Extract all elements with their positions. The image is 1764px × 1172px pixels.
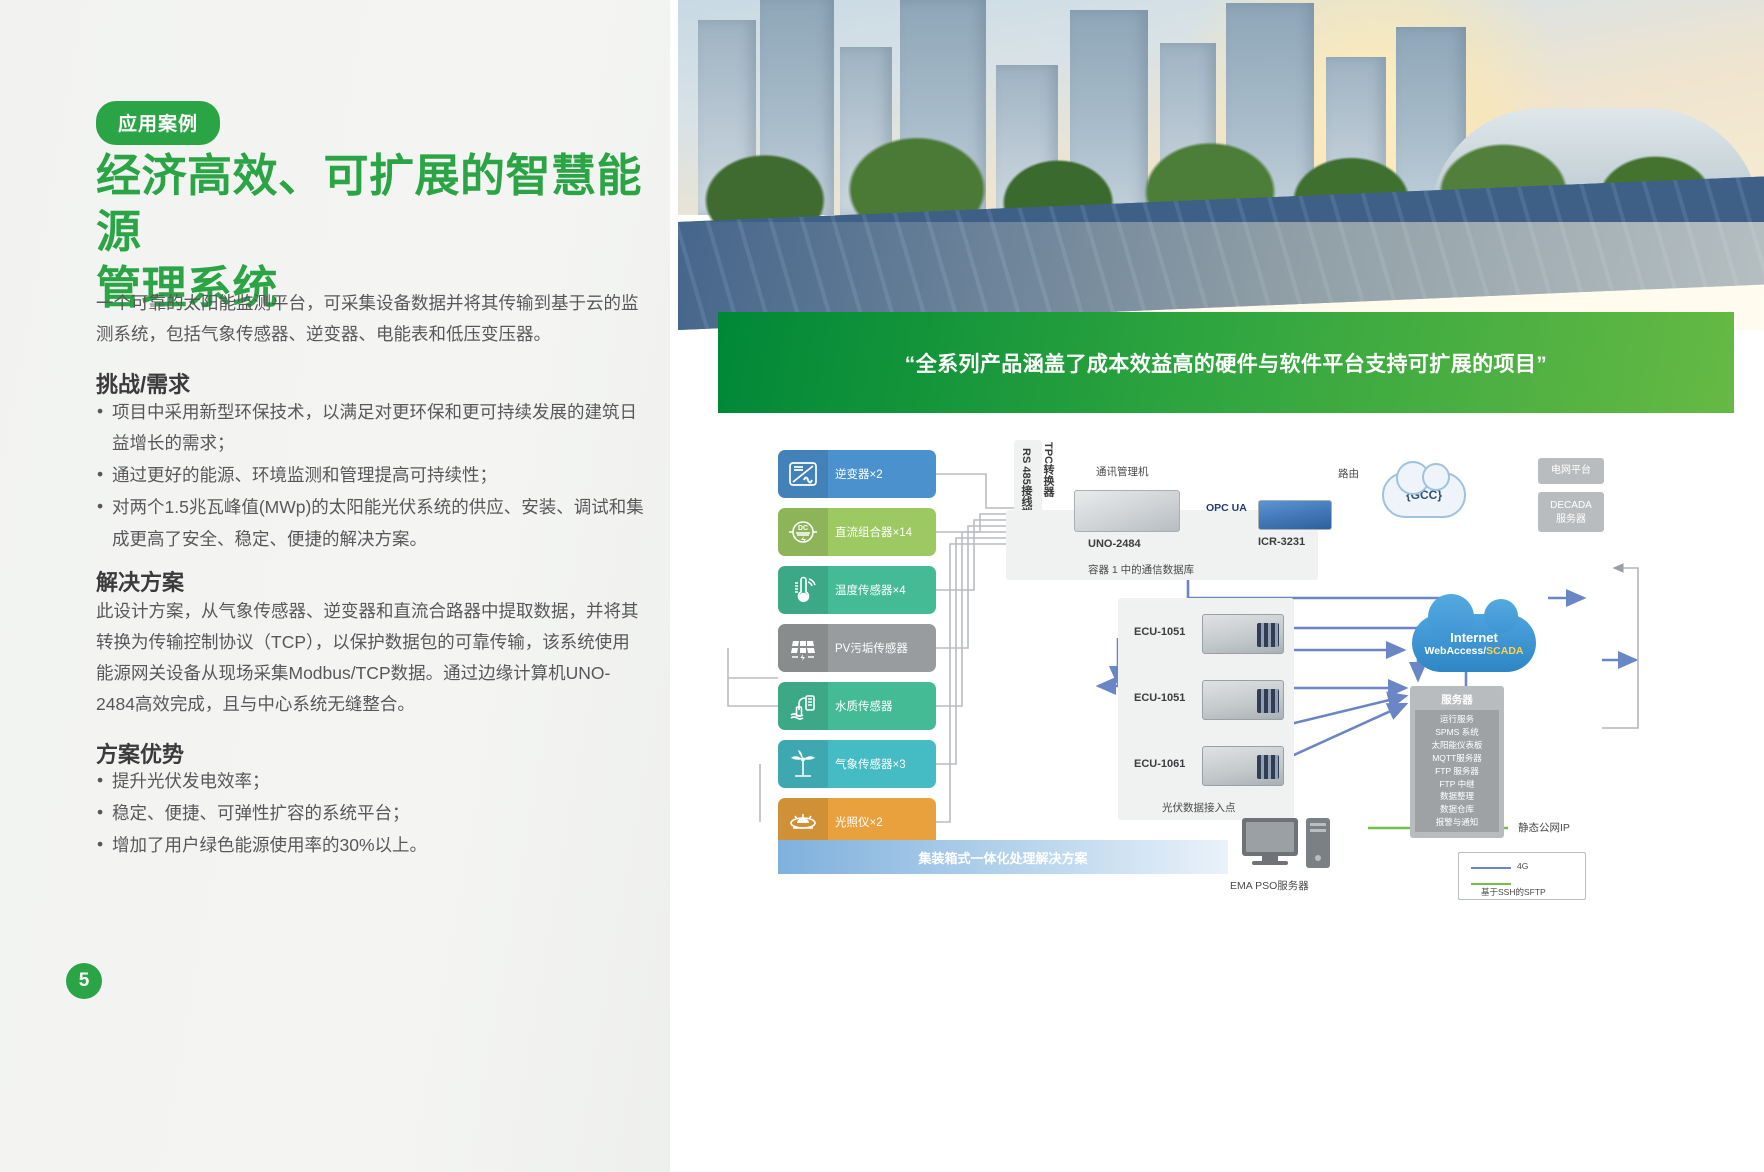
device-row[interactable]: 水质传感器 bbox=[778, 682, 936, 730]
list-item: 通过更好的能源、环境监测和管理提高可持续性； bbox=[96, 460, 644, 491]
list-item: 对两个1.5兆瓦峰值(MWp)的太阳能光伏系统的供应、安装、调试和集成更高了安全… bbox=[96, 492, 644, 554]
benefit-list: 提升光伏发电效率；稳定、便捷、可弹性扩容的系统平台；增加了用户绿色能源使用率的3… bbox=[96, 766, 644, 861]
server-item: FTP 服务器 bbox=[1415, 765, 1499, 778]
server-item: 太阳能仪表板 bbox=[1415, 739, 1499, 752]
device-row[interactable]: 温度传感器×4 bbox=[778, 566, 936, 614]
legend-label-4g: 4G bbox=[1517, 861, 1528, 871]
ema-server-label: EMA PSO服务器 bbox=[1230, 878, 1309, 893]
legend-box: 4G 基于SSH的SFTP bbox=[1458, 852, 1586, 900]
internet-cloud: Internet WebAccess/SCADA bbox=[1412, 614, 1536, 672]
list-item: 项目中采用新型环保技术，以满足对更环保和更可持续发展的建筑日益增长的需求； bbox=[96, 397, 644, 459]
section-body-benefit: 提升光伏发电效率；稳定、便捷、可弹性扩容的系统平台；增加了用户绿色能源使用率的3… bbox=[96, 766, 644, 862]
right-page: “全系列产品涵盖了成本效益高的硬件与软件平台支持可扩展的项目” bbox=[670, 0, 1764, 1172]
device-label: 直流组合器×14 bbox=[828, 524, 912, 540]
quote-text: “全系列产品涵盖了成本效益高的硬件与软件平台支持可扩展的项目” bbox=[905, 348, 1547, 378]
section-body-solution: 此设计方案，从气象传感器、逆变器和直流合路器中提取数据，并将其转换为传输控制协议… bbox=[96, 596, 644, 721]
comm-manager-label: 通讯管理机 bbox=[1096, 464, 1149, 479]
opc-ua-label: OPC UA bbox=[1206, 502, 1247, 514]
container-db-label: 容器 1 中的通信数据库 bbox=[1088, 562, 1194, 577]
server-item: 运行服务 bbox=[1415, 713, 1499, 726]
icr-3231-label: ICR-3231 bbox=[1258, 536, 1305, 548]
server-title: 服务器 bbox=[1410, 690, 1504, 710]
server-item: SPMS 系统 bbox=[1415, 726, 1499, 739]
device-row[interactable]: DC 直流组合器×14 bbox=[778, 508, 936, 556]
list-item: 增加了用户绿色能源使用率的30%以上。 bbox=[96, 830, 644, 861]
ecu-label: ECU-1061 bbox=[1134, 758, 1185, 770]
device-label: 水质传感器 bbox=[828, 698, 893, 714]
uno-2484-label: UNO-2484 bbox=[1088, 538, 1141, 550]
decada-server-card: DECADA 服务器 bbox=[1538, 492, 1604, 532]
legend-line-sftp bbox=[1471, 883, 1511, 885]
device-label: 光照仪×2 bbox=[828, 814, 883, 830]
ecu-device bbox=[1202, 614, 1284, 654]
gcc-label: {GCC} bbox=[1406, 488, 1442, 502]
pyranometer-icon bbox=[778, 798, 828, 846]
device-row[interactable]: 光照仪×2 bbox=[778, 798, 936, 846]
device-row[interactable]: 逆变器×2 bbox=[778, 450, 936, 498]
ema-workstation bbox=[1240, 816, 1348, 879]
server-item: FTP 中继 bbox=[1415, 778, 1499, 791]
architecture-diagram: 逆变器×2 DC 直流组合器×14 bbox=[718, 428, 1748, 948]
gcc-cloud: {GCC} bbox=[1382, 472, 1466, 518]
list-item: 稳定、便捷、可弹性扩容的系统平台； bbox=[96, 798, 644, 829]
application-case-badge: 应用案例 bbox=[96, 101, 220, 145]
uno-2484-device bbox=[1074, 490, 1180, 532]
server-item: 数据仓库 bbox=[1415, 803, 1499, 816]
challenge-list: 项目中采用新型环保技术，以满足对更环保和更可持续发展的建筑日益增长的需求；通过更… bbox=[96, 397, 644, 555]
weather-sensor-icon bbox=[778, 740, 828, 788]
section-heading-solution: 解决方案 bbox=[96, 565, 184, 597]
list-item: 提升光伏发电效率； bbox=[96, 766, 644, 797]
server-item: MQTT服务器 bbox=[1415, 752, 1499, 765]
server-item-list: 运行服务SPMS 系统太阳能仪表板MQTT服务器FTP 服务器FTP 中继数据整… bbox=[1415, 710, 1499, 832]
page-number: 5 bbox=[66, 963, 102, 999]
intro-paragraph: 一个可靠的太阳能监测平台，可采集设备数据并将其传输到基于云的监测系统，包括气象传… bbox=[96, 288, 641, 350]
ecu-label: ECU-1051 bbox=[1134, 626, 1185, 638]
ecu-device bbox=[1202, 746, 1284, 786]
container-solution-bar: 集装箱式一体化处理解决方案 bbox=[778, 840, 1228, 874]
legend-line-4g bbox=[1471, 867, 1511, 869]
device-label: 气象传感器×3 bbox=[828, 756, 906, 772]
left-page: 应用案例 经济高效、可扩展的智慧能源管理系统 一个可靠的太阳能监测平台，可采集设… bbox=[0, 0, 760, 1172]
device-label: 逆变器×2 bbox=[828, 466, 883, 482]
dc-combiner-icon: DC bbox=[778, 508, 828, 556]
ecu-label: ECU-1051 bbox=[1134, 692, 1185, 704]
webaccess-scada-label: WebAccess/SCADA bbox=[1424, 645, 1523, 657]
section-body-challenge: 项目中采用新型环保技术，以满足对更环保和更可持续发展的建筑日益增长的需求；通过更… bbox=[96, 397, 644, 556]
device-label: 温度传感器×4 bbox=[828, 582, 906, 598]
hero-photo bbox=[678, 0, 1764, 330]
static-public-ip-label: 静态公网IP bbox=[1518, 820, 1570, 835]
temperature-sensor-icon bbox=[778, 566, 828, 614]
legend-label-sftp: 基于SSH的SFTP bbox=[1481, 886, 1546, 898]
router-label: 路由 bbox=[1338, 466, 1359, 481]
server-item: 报警与通知 bbox=[1415, 816, 1499, 829]
inverter-icon bbox=[778, 450, 828, 498]
internet-label: Internet bbox=[1450, 630, 1498, 645]
ecu-device bbox=[1202, 680, 1284, 720]
icr-3231-device bbox=[1258, 500, 1332, 530]
pv-access-label: 光伏数据接入点 bbox=[1162, 800, 1236, 815]
device-row[interactable]: PV污垢传感器 bbox=[778, 624, 936, 672]
water-quality-sensor-icon bbox=[778, 682, 828, 730]
tpc-converter-label: TPC转换器 bbox=[1040, 442, 1056, 497]
section-heading-benefit: 方案优势 bbox=[96, 737, 184, 769]
grid-platform-card: 电网平台 bbox=[1538, 458, 1604, 484]
server-item: 数据整理 bbox=[1415, 790, 1499, 803]
svg-text:DC: DC bbox=[798, 525, 808, 532]
quote-banner: “全系列产品涵盖了成本效益高的硬件与软件平台支持可扩展的项目” bbox=[718, 312, 1734, 413]
pv-soiling-sensor-icon bbox=[778, 624, 828, 672]
device-label: PV污垢传感器 bbox=[828, 640, 908, 656]
device-row[interactable]: 气象传感器×3 bbox=[778, 740, 936, 788]
section-heading-challenge: 挑战/需求 bbox=[96, 367, 190, 399]
server-panel: 服务器 运行服务SPMS 系统太阳能仪表板MQTT服务器FTP 服务器FTP 中… bbox=[1410, 686, 1504, 838]
